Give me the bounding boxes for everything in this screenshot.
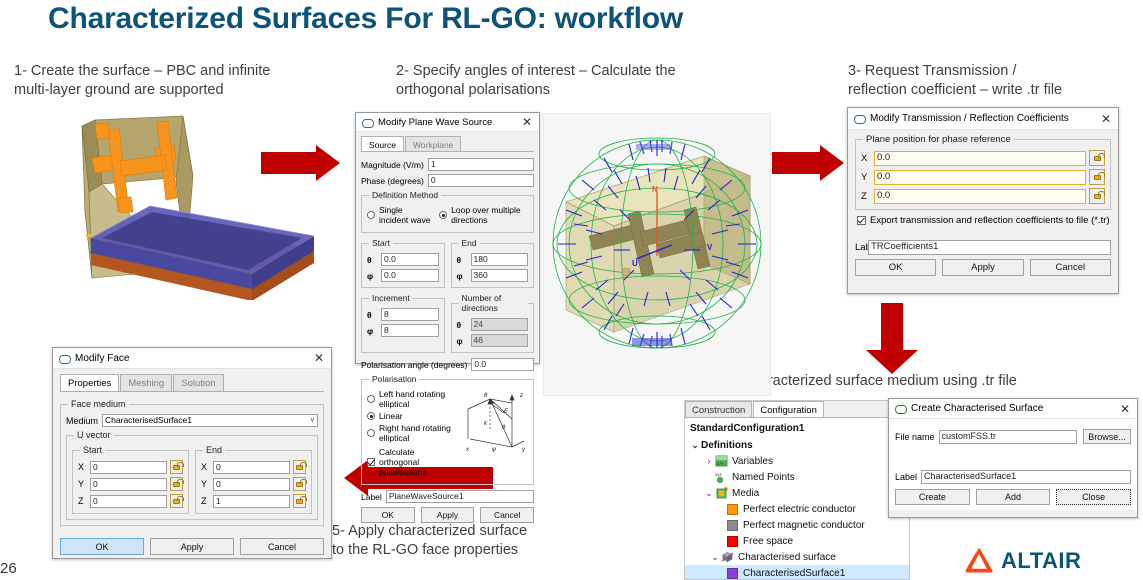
ndir-phi-value: 46	[471, 334, 529, 347]
radio-single-incident-wave[interactable]: Single incident wave	[367, 205, 433, 225]
y-label: Y	[78, 479, 86, 489]
radio-mark-icon	[439, 211, 447, 219]
svg-text:xyz: xyz	[715, 472, 723, 477]
tree-item-label: Characterised surface	[738, 552, 836, 563]
radio-left-label: Left hand rotating elliptical	[379, 389, 456, 409]
tree-item-characterised-surface-1[interactable]: CharacterisedSurface1	[685, 565, 909, 580]
start-y-input[interactable]: 0	[90, 478, 167, 491]
magnitude-input[interactable]: 1	[428, 158, 534, 171]
file-name-row: File name customFSS.tr Browse...	[895, 429, 1131, 444]
step-2-caption: 2- Specify angles of interest – Calculat…	[396, 62, 726, 99]
radio-right-hand-elliptical[interactable]: Right hand rotating elliptical	[367, 423, 456, 443]
phase-row: Phase (degrees) 0	[361, 174, 534, 187]
polarisation-angle-label: Polarisation angle (degrees)	[361, 360, 467, 370]
svg-text:z: z	[519, 393, 523, 399]
end-group: End θ 180 φ 360	[451, 238, 535, 288]
end-x-input[interactable]: 0	[213, 461, 290, 474]
checkbox-calculate-orthogonal-polarisations[interactable]: Calculate orthogonal polarisations	[367, 447, 456, 477]
x-input[interactable]: 0.0	[874, 151, 1086, 166]
label-input[interactable]: PlaneWaveSource1	[386, 490, 534, 503]
tree-root-label: StandardConfiguration1 ⚑	[685, 418, 909, 437]
phi-symbol: φ	[457, 336, 467, 346]
feko-app-icon	[362, 117, 373, 128]
lock-icon[interactable]	[170, 477, 183, 491]
medium-select[interactable]: CharacterisedSurface1 ∨	[102, 414, 318, 427]
pbc-surface-3d-render	[62, 112, 314, 300]
face-medium-legend: Face medium	[68, 399, 129, 409]
label-label: Label	[361, 492, 382, 502]
radio-loop-label: Loop over multiple directions	[451, 205, 528, 225]
svg-text:V: V	[707, 243, 713, 252]
chevron-down-icon: ∨	[310, 415, 315, 426]
label-label: Label	[895, 472, 917, 482]
increment-phi-row: φ 8	[367, 324, 439, 337]
label-row: Label CharacterisedSurface1	[895, 470, 1131, 484]
phase-label: Phase (degrees)	[361, 176, 424, 186]
face-medium-group: Face medium Medium CharacterisedSurface1…	[60, 399, 324, 526]
medium-color-swatch	[727, 504, 738, 515]
start-x-input[interactable]: 0	[90, 461, 167, 474]
tree-item-perfect-electric-conductor[interactable]: Perfect electric conductor	[685, 501, 909, 517]
svg-text:θ: θ	[484, 393, 488, 399]
cancel-button[interactable]: Cancel	[1030, 259, 1111, 276]
checkbox-mark-icon	[367, 458, 375, 466]
start-phi-row: φ 0.0	[367, 269, 439, 282]
lock-icon[interactable]	[1089, 169, 1105, 185]
theta-symbol: θ	[367, 255, 377, 265]
tab-strip: Properties Meshing Solution	[60, 374, 324, 392]
arrow-shaft	[881, 303, 903, 350]
medium-color-swatch	[727, 568, 738, 579]
altair-logo: ALTAIR	[965, 546, 1140, 576]
lock-icon[interactable]	[293, 494, 306, 508]
polarisation-legend: Polarisation	[369, 374, 419, 384]
phase-input[interactable]: 0	[428, 174, 534, 187]
page-title: Characterized Surfaces For RL-GO: workfl…	[48, 2, 683, 36]
slide-root: Characterized Surfaces For RL-GO: workfl…	[0, 0, 1143, 580]
increment-theta-input[interactable]: 8	[381, 308, 439, 321]
end-y-row: Y 0	[201, 477, 306, 491]
z-label: Z	[861, 191, 870, 202]
tree-item-definitions[interactable]: ⌄ Definitions	[685, 437, 909, 453]
polarisation-angle-row: Polarisation angle (degrees) 0.0	[361, 358, 534, 371]
end-y-input[interactable]: 0	[213, 478, 290, 491]
z-label: Z	[201, 496, 209, 506]
arrow-head-right-icon	[316, 145, 340, 181]
start-y-row: Y 0	[78, 477, 183, 491]
close-icon[interactable]: ✕	[1117, 401, 1133, 417]
root-text: StandardConfiguration1	[690, 423, 804, 434]
ndir-theta-row: θ 24	[457, 318, 529, 331]
svg-text:y: y	[521, 447, 526, 453]
chevron-right-icon[interactable]: ›	[703, 456, 715, 466]
x-label: X	[78, 462, 86, 472]
close-icon[interactable]: ✕	[1098, 111, 1114, 127]
named-points-icon: xyz	[715, 471, 728, 483]
definition-method-group: Definition Method Single incident wave L…	[361, 190, 534, 233]
dialog-body: File name customFSS.tr Browse... Label C…	[889, 419, 1137, 510]
dialog-title: Modify Plane Wave Source	[378, 117, 519, 128]
y-label: Y	[861, 172, 870, 183]
export-label: Export transmission and reflection coeff…	[870, 215, 1110, 226]
tree-item-label: Perfect magnetic conductor	[743, 520, 865, 531]
tab-solution[interactable]: Solution	[173, 374, 223, 391]
ndir-theta-value: 24	[471, 318, 529, 331]
end-theta-input[interactable]: 180	[471, 253, 529, 266]
tree-item-named-points[interactable]: xyz Named Points	[685, 469, 909, 485]
modify-face-dialog: Modify Face ✕ Properties Meshing Solutio…	[52, 347, 332, 559]
tab-configuration[interactable]: Configuration	[753, 401, 824, 417]
tab-properties[interactable]: Properties	[60, 374, 119, 391]
u-start-legend: Start	[80, 445, 105, 455]
lock-icon[interactable]	[293, 477, 306, 491]
u-vector-legend: U vector	[74, 430, 114, 440]
definition-method-legend: Definition Method	[369, 190, 441, 200]
altair-mark-icon	[965, 548, 993, 574]
svg-text:θ: θ	[502, 425, 506, 431]
start-z-row: Z 0	[78, 494, 183, 508]
z-row: Z 0.0	[861, 188, 1105, 204]
arrow-step3-to-step4	[866, 303, 918, 374]
end-phi-input[interactable]: 360	[471, 269, 529, 282]
radio-loop-over-multiple-directions[interactable]: Loop over multiple directions	[439, 205, 528, 225]
start-phi-input[interactable]: 0.0	[381, 269, 439, 282]
dialog-body: Properties Meshing Solution Face medium …	[53, 369, 331, 561]
tree-item-label: Free space	[743, 536, 793, 547]
label-row: Label PlaneWaveSource1	[361, 490, 534, 503]
lock-icon[interactable]	[1089, 188, 1105, 204]
radio-linear-label: Linear	[379, 411, 403, 421]
theta-symbol: θ	[457, 255, 467, 265]
step-1-caption: 1- Create the surface – PBC and infinite…	[14, 62, 314, 99]
theta-symbol: θ	[367, 310, 377, 320]
media-icon	[715, 487, 728, 499]
tree-item-label: Media	[732, 488, 759, 499]
add-button[interactable]: Add	[976, 489, 1051, 505]
start-theta-row: θ 0.0	[367, 253, 439, 266]
end-z-input[interactable]: 1	[213, 495, 290, 508]
u-end-group: End X 0 Y 0	[195, 445, 312, 514]
increment-theta-row: θ 8	[367, 308, 439, 321]
arrow-step2-to-step3	[772, 145, 844, 181]
label-label: Label	[855, 242, 864, 253]
radio-right-label: Right hand rotating elliptical	[379, 423, 456, 443]
tree-item-perfect-magnetic-conductor[interactable]: Perfect magnetic conductor	[685, 517, 909, 533]
start-x-row: X 0	[78, 460, 183, 474]
charsurf-icon	[721, 551, 734, 563]
u-start-group: Start X 0 Y 0	[72, 445, 189, 514]
plane-position-group: Plane position for phase reference X 0.0…	[855, 134, 1111, 210]
svg-text:x/n: x/n	[717, 461, 724, 467]
end-x-row: X 0	[201, 460, 306, 474]
dialog-titlebar: Modify Plane Wave Source ✕	[356, 113, 539, 132]
calc-orthogonal-label: Calculate orthogonal polarisations	[379, 447, 456, 477]
create-characterised-surface-dialog: Create Characterised Surface ✕ File name…	[888, 398, 1138, 518]
close-icon[interactable]: ✕	[311, 350, 327, 366]
arrow-head-right-icon	[820, 145, 844, 181]
tree-item-variables[interactable]: › x/n Variables	[685, 453, 909, 469]
button-row: OK Apply Cancel	[855, 259, 1111, 276]
chevron-down-icon[interactable]: ⌄	[689, 440, 701, 451]
file-name-label: File name	[895, 432, 935, 442]
svg-text:E: E	[504, 409, 509, 415]
chevron-down-icon[interactable]: ⌄	[703, 488, 715, 499]
magnitude-label: Magnitude (V/m)	[361, 160, 424, 170]
lock-icon[interactable]	[170, 460, 183, 474]
tab-workplane[interactable]: Workplane	[405, 136, 461, 151]
medium-label: Medium	[66, 416, 98, 426]
feko-app-icon	[895, 403, 906, 414]
phi-symbol: φ	[367, 326, 377, 336]
phi-symbol: φ	[367, 271, 377, 281]
ok-button[interactable]: OK	[361, 507, 415, 523]
u-end-legend: End	[203, 445, 225, 455]
tree-tab-strip: Construction Configuration	[685, 401, 909, 418]
dialog-titlebar: Modify Face ✕	[53, 348, 331, 369]
step-5-caption: 5- Apply characterized surface to the RL…	[332, 522, 582, 559]
variables-icon: x/n	[715, 455, 728, 467]
create-button[interactable]: Create	[895, 489, 970, 505]
modify-tr-coefficients-dialog: Modify Transmission / Reflection Coeffic…	[847, 107, 1119, 294]
tree-item-label: CharacterisedSurface1	[743, 568, 845, 579]
y-label: Y	[201, 479, 209, 489]
y-input[interactable]: 0.0	[874, 170, 1086, 185]
z-input[interactable]: 0.0	[874, 189, 1086, 204]
end-legend: End	[459, 238, 480, 248]
arrow-head-down-icon	[866, 350, 918, 374]
tree-item-label: Definitions	[701, 440, 753, 451]
tree-item-label: Named Points	[732, 472, 795, 483]
feko-app-icon	[854, 113, 865, 124]
tree-item-label: Variables	[732, 456, 773, 467]
x-row: X 0.0	[861, 150, 1105, 166]
modify-plane-wave-source-dialog: Modify Plane Wave Source ✕ Source Workpl…	[355, 112, 540, 364]
dialog-titlebar: Modify Transmission / Reflection Coeffic…	[848, 108, 1118, 130]
number-of-directions-group: Number of directions θ 24 φ 46	[451, 293, 535, 353]
end-phi-row: φ 360	[457, 269, 529, 282]
u-vector-group: U vector Start X 0 Y 0	[66, 430, 318, 520]
radio-mark-icon	[367, 412, 375, 420]
file-name-input[interactable]: customFSS.tr	[939, 430, 1077, 444]
tab-strip: Source Workplane	[361, 136, 534, 152]
svg-text:N: N	[652, 185, 658, 194]
checkbox-mark-icon	[857, 216, 866, 225]
svg-text:x: x	[465, 447, 470, 453]
page-number: 26	[0, 560, 17, 577]
incident-directions-3d-render: N U V	[543, 113, 771, 396]
feko-app-icon	[59, 353, 70, 364]
z-label: Z	[78, 496, 86, 506]
lock-icon[interactable]	[1089, 150, 1105, 166]
ok-button[interactable]: OK	[855, 259, 936, 276]
dialog-title: Modify Transmission / Reflection Coeffic…	[870, 113, 1098, 124]
dialog-body: Plane position for phase reference X 0.0…	[848, 130, 1118, 282]
theta-symbol: θ	[457, 320, 467, 330]
increment-phi-input[interactable]: 8	[381, 324, 439, 337]
phi-symbol: φ	[457, 271, 467, 281]
tab-meshing[interactable]: Meshing	[120, 374, 172, 391]
label-row: Label TRCoefficients1	[855, 240, 1111, 255]
tree-item-label: Perfect electric conductor	[743, 504, 856, 515]
ok-button[interactable]: OK	[60, 538, 144, 555]
lock-icon[interactable]	[293, 460, 306, 474]
x-label: X	[201, 462, 209, 472]
label-input[interactable]: CharacterisedSurface1	[921, 470, 1131, 484]
arrow-shaft	[772, 152, 820, 174]
altair-wordmark: ALTAIR	[1001, 548, 1081, 574]
button-row: Create Add Close	[895, 489, 1131, 505]
radio-mark-icon	[367, 395, 375, 403]
radio-linear[interactable]: Linear	[367, 411, 456, 421]
close-icon[interactable]: ✕	[519, 114, 535, 130]
step-3-caption: 3- Request Transmission / reflection coe…	[848, 62, 1138, 99]
medium-row: Medium CharacterisedSurface1 ∨	[66, 414, 318, 427]
dialog-title: Create Characterised Surface	[911, 403, 1117, 414]
y-row: Y 0.0	[861, 169, 1105, 185]
cancel-button[interactable]: Cancel	[240, 538, 324, 555]
dialog-body: Source Workplane Magnitude (V/m) 1 Phase…	[356, 132, 539, 527]
apply-button[interactable]: Apply	[942, 259, 1023, 276]
radio-left-hand-elliptical[interactable]: Left hand rotating elliptical	[367, 389, 456, 409]
button-row: OK Apply Cancel	[361, 507, 534, 523]
dialog-title: Modify Face	[75, 353, 311, 364]
tab-source[interactable]: Source	[361, 136, 404, 151]
label-input[interactable]: TRCoefficients1	[868, 240, 1111, 255]
start-z-input[interactable]: 0	[90, 495, 167, 508]
tree-item-free-space[interactable]: Free space	[685, 533, 909, 549]
checkbox-export-tr-coefficients[interactable]: Export transmission and reflection coeff…	[857, 215, 1111, 226]
medium-color-swatch	[727, 536, 738, 547]
medium-value: CharacterisedSurface1	[105, 415, 192, 426]
cancel-button[interactable]: Cancel	[480, 507, 534, 523]
tree-item-characterised-surface[interactable]: ⌄ Characterised surface	[685, 549, 909, 565]
polarisation-angle-input[interactable]: 0.0	[471, 358, 534, 371]
x-label: X	[861, 153, 870, 164]
radio-single-incident-wave-label: Single incident wave	[379, 205, 433, 225]
browse-button[interactable]: Browse...	[1083, 429, 1131, 444]
start-group: Start θ 0.0 φ 0.0	[361, 238, 445, 288]
ndir-phi-row: φ 46	[457, 334, 529, 347]
button-row: OK Apply Cancel	[60, 538, 324, 555]
apply-button[interactable]: Apply	[150, 538, 234, 555]
close-button[interactable]: Close	[1056, 489, 1131, 505]
svg-text:φ: φ	[492, 447, 496, 453]
end-theta-row: θ 180	[457, 253, 529, 266]
increment-legend: Increment	[369, 293, 413, 303]
lock-icon[interactable]	[170, 494, 183, 508]
ndir-legend: Number of directions	[459, 293, 529, 313]
configuration-tree-panel: Construction Configuration StandardConfi…	[684, 400, 910, 580]
polarisation-diagram-icon: θ z E θ k x y φ	[460, 389, 528, 453]
polarisation-group: Polarisation Left hand rotating elliptic…	[361, 374, 534, 485]
chevron-down-icon[interactable]: ⌄	[709, 552, 721, 563]
radio-mark-icon	[367, 429, 375, 437]
apply-button[interactable]: Apply	[421, 507, 475, 523]
end-z-row: Z 1	[201, 494, 306, 508]
start-theta-input[interactable]: 0.0	[381, 253, 439, 266]
plane-position-legend: Plane position for phase reference	[863, 134, 1014, 145]
medium-color-swatch	[727, 520, 738, 531]
tab-construction[interactable]: Construction	[685, 401, 752, 417]
dialog-titlebar: Create Characterised Surface ✕	[889, 399, 1137, 419]
tree-item-media[interactable]: ⌄ Media	[685, 485, 909, 501]
svg-text:k: k	[484, 421, 488, 427]
increment-group: Increment θ 8 φ 8	[361, 293, 445, 353]
radio-mark-icon	[367, 211, 375, 219]
magnitude-row: Magnitude (V/m) 1	[361, 158, 534, 171]
start-legend: Start	[369, 238, 393, 248]
svg-text:U: U	[632, 259, 638, 268]
